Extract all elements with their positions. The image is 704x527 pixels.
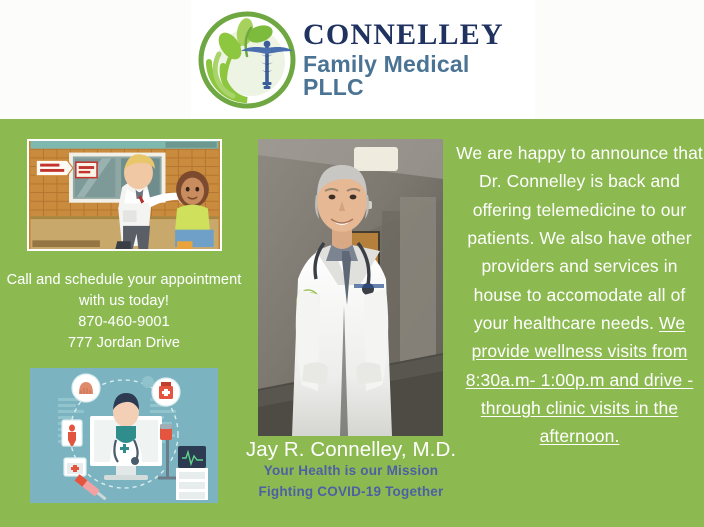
cta-line-2: with us today!	[0, 291, 248, 312]
logo-block: CONNELLEY Family Medical PLLC	[191, 0, 535, 119]
announcement-plain-text: We are happy to announce that Dr. Connel…	[456, 143, 703, 333]
logo-wordmark: CONNELLEY Family Medical PLLC	[303, 20, 535, 99]
doctor-name: Jay R. Connelley, M.D.	[242, 438, 460, 462]
cta-line-1: Call and schedule your appointment	[0, 270, 248, 291]
header-band: CONNELLEY Family Medical PLLC	[0, 0, 704, 119]
announcement-underlined-text: We provide wellness visits from 8:30a.m-…	[466, 313, 694, 446]
left-contact-copy: Call and schedule your appointment with …	[0, 270, 248, 354]
announcement-paragraph: We are happy to announce that Dr. Connel…	[455, 139, 704, 451]
tagline-mission: Your Health is our Mission	[242, 463, 460, 478]
logo-title: CONNELLEY	[303, 20, 535, 50]
tagline-covid: Fighting COVID-19 Together	[242, 484, 460, 499]
phone-number: 870-460-9001	[0, 312, 248, 333]
street-address: 777 Jordan Drive	[0, 333, 248, 354]
flyer-page: CONNELLEY Family Medical PLLC	[0, 0, 704, 527]
drive-through-clinic-illustration-icon	[27, 139, 222, 251]
logo-subtitle: Family Medical PLLC	[303, 53, 535, 99]
doctor-portrait-photo-icon	[258, 139, 443, 436]
caduceus-leaf-circle-logo-icon	[195, 8, 299, 112]
telemedicine-doctor-monitor-illustration-icon	[30, 368, 218, 503]
